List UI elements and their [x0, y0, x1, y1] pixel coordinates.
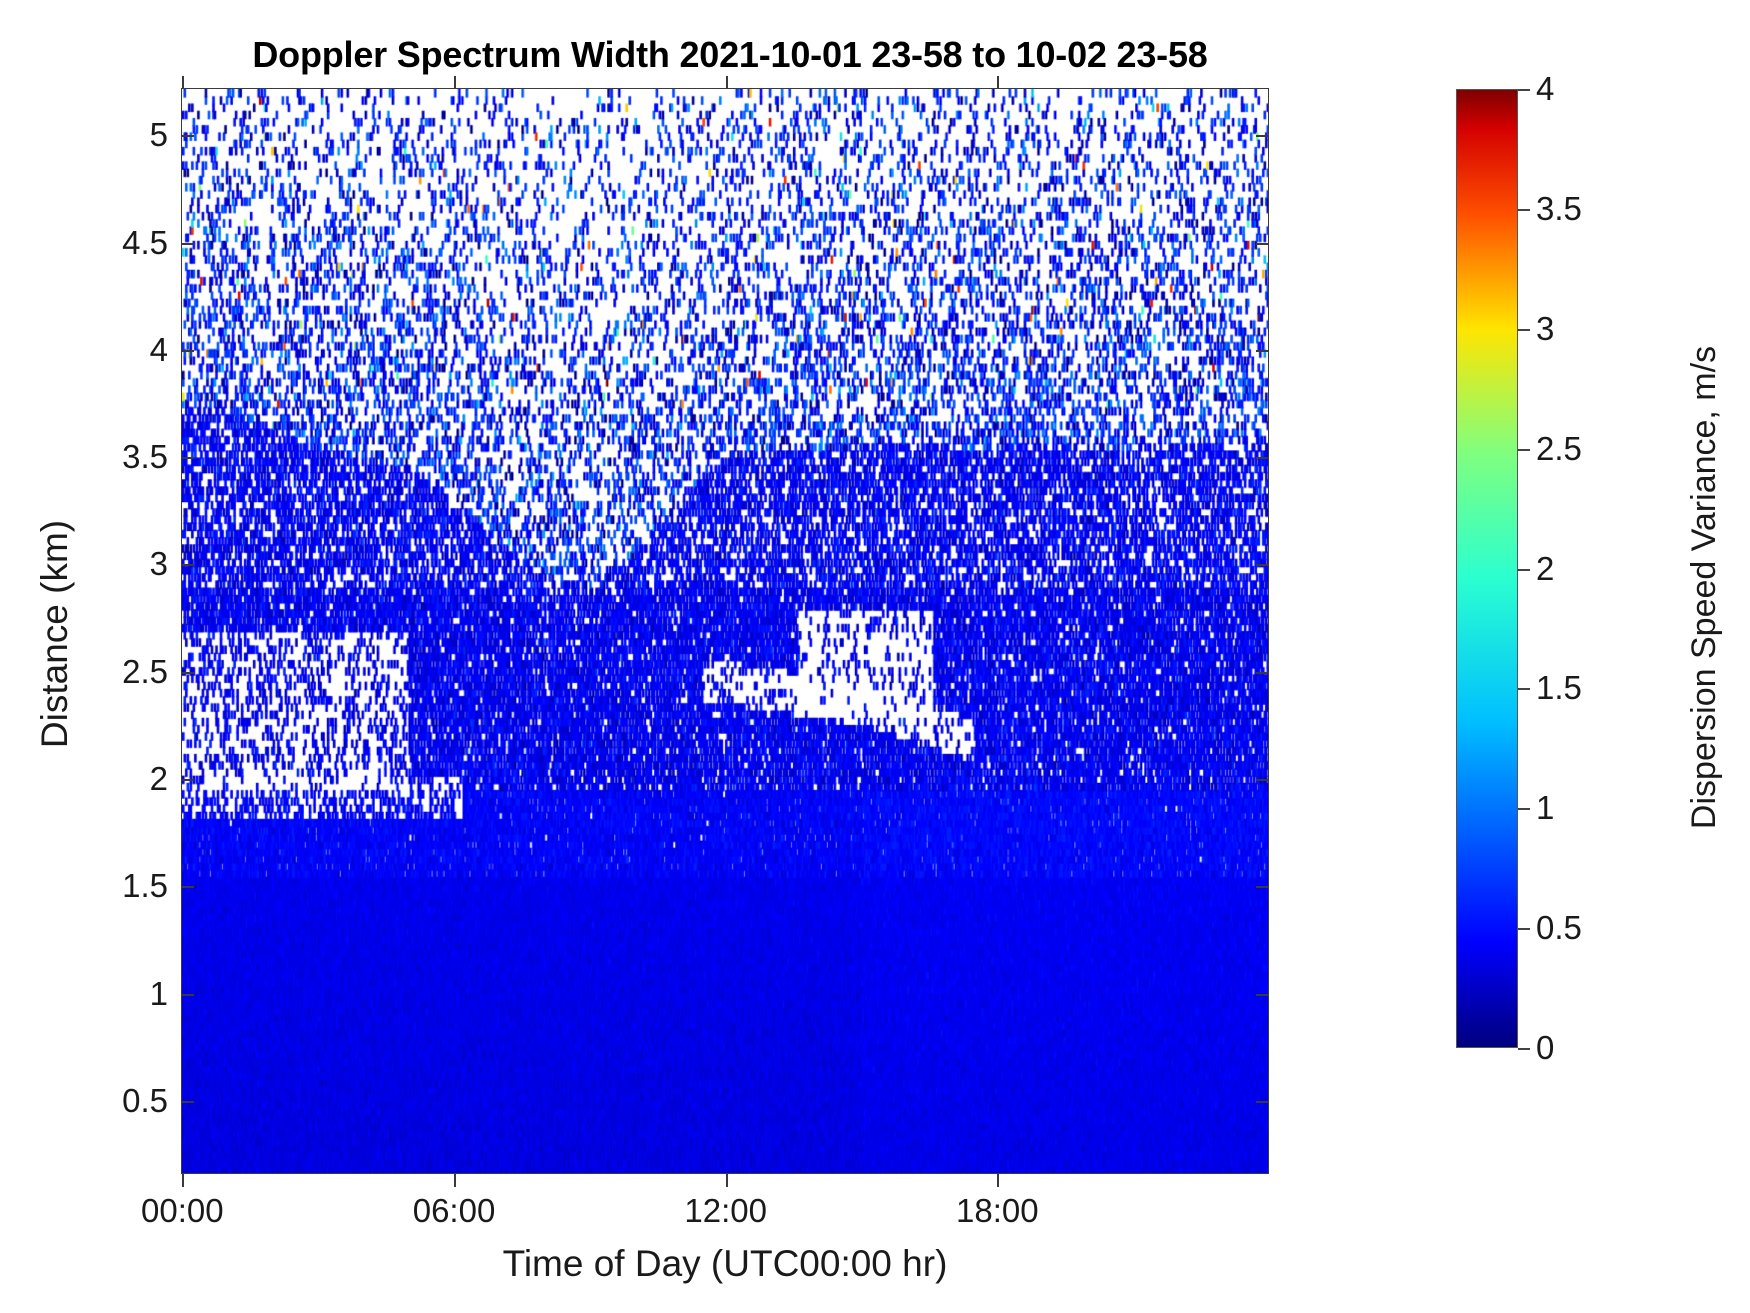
colorbar-tick-label: 1.5 [1536, 669, 1582, 707]
colorbar-gradient [1457, 90, 1517, 1047]
colorbar-tick-label: 4 [1536, 70, 1554, 108]
y-tick-mark-right [1256, 672, 1269, 674]
colorbar-tick-mark [1518, 329, 1530, 331]
y-tick-mark-right [1256, 135, 1269, 137]
y-tick-mark-right [1256, 457, 1269, 459]
colorbar-tick-mark [1518, 209, 1530, 211]
y-tick-mark [181, 350, 194, 352]
y-tick-label: 3.5 [122, 438, 168, 476]
y-tick-label: 1 [150, 975, 168, 1013]
y-tick-mark [181, 243, 194, 245]
y-tick-mark [181, 779, 194, 781]
y-axis-tick-marks-right [1255, 88, 1269, 1174]
y-tick-mark-right [1256, 243, 1269, 245]
colorbar-tick-label: 2.5 [1536, 430, 1582, 468]
x-tick-mark-top [997, 76, 999, 89]
colorbar-tick-labels: 00.511.522.533.54 [1536, 89, 1656, 1048]
colorbar-tick-mark [1518, 449, 1530, 451]
y-tick-mark-right [1256, 564, 1269, 566]
colorbar-tick-mark [1518, 569, 1530, 571]
y-tick-label: 1.5 [122, 867, 168, 905]
colorbar-tick-label: 1 [1536, 789, 1554, 827]
x-tick-mark-top [182, 76, 184, 89]
x-tick-label: 18:00 [956, 1192, 1039, 1230]
y-tick-label: 5 [150, 116, 168, 154]
y-tick-mark-right [1256, 886, 1269, 888]
x-tick-mark [182, 1174, 184, 1187]
colorbar [1456, 89, 1518, 1048]
x-axis-tick-labels: 00:0006:0012:0018:00 [181, 1192, 1269, 1240]
y-axis-label: Distance (km) [34, 91, 76, 1177]
x-tick-mark [997, 1174, 999, 1187]
y-tick-label: 2 [150, 760, 168, 798]
x-tick-mark-top [454, 76, 456, 89]
colorbar-tick-label: 3 [1536, 310, 1554, 348]
x-axis-tick-marks-top [181, 75, 1269, 89]
page-title: Doppler Spectrum Width 2021-10-01 23-58 … [175, 34, 1285, 76]
y-tick-label: 0.5 [122, 1082, 168, 1120]
colorbar-tick-marks [1518, 89, 1532, 1048]
y-tick-mark-right [1256, 1101, 1269, 1103]
colorbar-tick-mark [1518, 89, 1530, 91]
y-tick-mark [181, 994, 194, 996]
colorbar-tick-label: 0 [1536, 1029, 1554, 1067]
colorbar-tick-mark [1518, 688, 1530, 690]
y-tick-mark-right [1256, 779, 1269, 781]
x-tick-mark [454, 1174, 456, 1187]
x-tick-label: 00:00 [141, 1192, 224, 1230]
y-tick-label: 4.5 [122, 224, 168, 262]
y-tick-mark-right [1256, 350, 1269, 352]
x-axis-tick-marks [181, 1174, 1269, 1188]
x-axis-label: Time of Day (UTC00:00 hr) [181, 1243, 1269, 1285]
y-tick-mark-right [1256, 994, 1269, 996]
colorbar-tick-mark [1518, 928, 1530, 930]
y-tick-mark [181, 135, 194, 137]
y-tick-label: 4 [150, 331, 168, 369]
heatmap-image [182, 89, 1268, 1173]
colorbar-tick-label: 0.5 [1536, 909, 1582, 947]
x-tick-label: 06:00 [413, 1192, 496, 1230]
y-axis-tick-marks [181, 88, 195, 1174]
colorbar-tick-mark [1518, 1048, 1530, 1050]
colorbar-tick-label: 2 [1536, 550, 1554, 588]
heatmap-axes [181, 88, 1269, 1174]
y-tick-mark [181, 564, 194, 566]
colorbar-tick-mark [1518, 808, 1530, 810]
x-tick-label: 12:00 [684, 1192, 767, 1230]
y-tick-mark [181, 886, 194, 888]
colorbar-tick-label: 3.5 [1536, 190, 1582, 228]
y-tick-mark [181, 1101, 194, 1103]
y-tick-mark [181, 457, 194, 459]
y-tick-label: 3 [150, 545, 168, 583]
y-tick-mark [181, 672, 194, 674]
x-tick-mark-top [726, 76, 728, 89]
x-tick-mark [726, 1174, 728, 1187]
y-tick-label: 2.5 [122, 653, 168, 691]
colorbar-label: Dispersion Speed Variance, m/s [1685, 108, 1724, 1067]
figure-root: Doppler Spectrum Width 2021-10-01 23-58 … [0, 0, 1750, 1313]
